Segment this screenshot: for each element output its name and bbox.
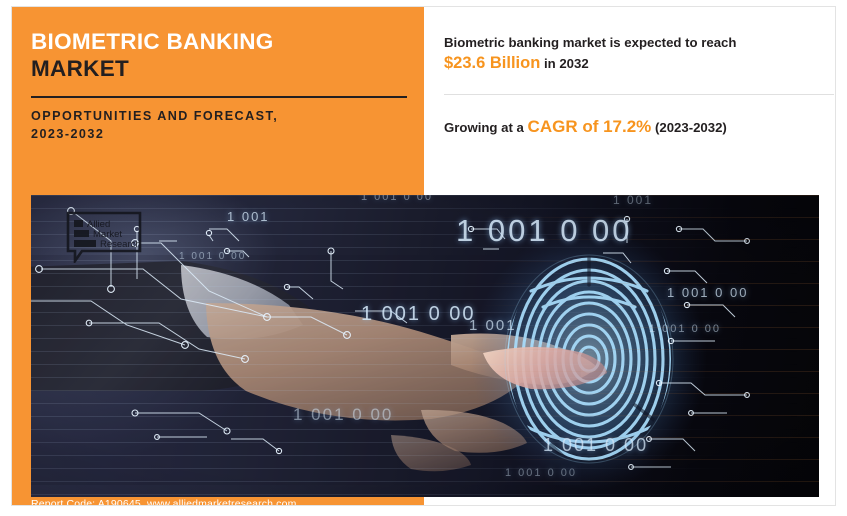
- allied-market-research-logo: Allied Market Research: [66, 211, 144, 263]
- subtitle-line-1: OPPORTUNITIES AND FORECAST,: [31, 107, 407, 125]
- hero-image: 1 001 1 001 0 00 1 001 0 00 1 001 0 00 1…: [31, 195, 819, 497]
- stat-market-size-lead: Biometric banking market is expected to …: [444, 35, 736, 50]
- title-divider: [31, 96, 407, 98]
- stat-cagr-value: CAGR of 17.2%: [528, 117, 652, 136]
- title-line-secondary: MARKET: [31, 55, 407, 82]
- stat-cagr-trailing: (2023-2032): [655, 120, 727, 135]
- report-infographic-card: BIOMETRIC BANKING MARKET OPPORTUNITIES A…: [11, 6, 836, 506]
- stat-market-size-trailing: in 2032: [544, 56, 589, 71]
- stat-cagr: Growing at a CAGR of 17.2% (2023-2032): [444, 117, 834, 138]
- stat-market-size-value: $23.6 Billion: [444, 54, 540, 72]
- stat-cagr-lead: Growing at a: [444, 120, 524, 135]
- page-title: BIOMETRIC BANKING MARKET: [31, 28, 407, 82]
- subtitle-line-2: 2023-2032: [31, 125, 407, 143]
- statistics-panel: Biometric banking market is expected to …: [424, 7, 836, 195]
- page-subtitle: OPPORTUNITIES AND FORECAST, 2023-2032: [31, 107, 407, 143]
- stat-market-size: Biometric banking market is expected to …: [444, 33, 824, 74]
- title-line-primary: BIOMETRIC BANKING: [31, 28, 407, 55]
- hero-vignette: [31, 195, 819, 497]
- footer-report-code: Report Code: A190645, www.alliedmarketre…: [31, 498, 296, 506]
- logo-line-3: Research: [100, 239, 141, 250]
- stat-divider: [444, 94, 834, 95]
